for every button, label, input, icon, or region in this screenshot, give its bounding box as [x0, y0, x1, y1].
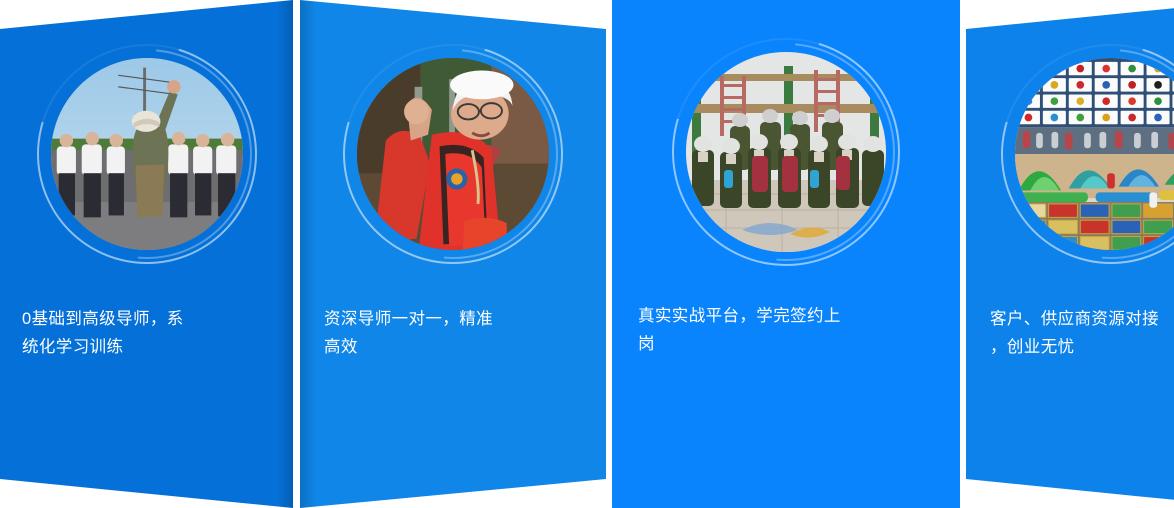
panel-seam-right	[277, 0, 293, 508]
panel-face: 0基础到高级导师，系 统化学习训练	[0, 0, 293, 508]
panel-4-caption: 客户、供应商资源对接 ，创业无忧	[966, 305, 1174, 362]
outdoor-formation-training-photo	[51, 58, 243, 250]
feature-panel-4[interactable]: 客户、供应商资源对接 ，创业无忧	[966, 0, 1174, 508]
panel-4-medallion	[1015, 58, 1174, 250]
panel-face: 资深导师一对一，精准 高效	[300, 0, 606, 508]
promo-panel-banner: 0基础到高级导师，系 统化学习训练	[0, 0, 1174, 508]
panel-face: 真实实战平台，学完签约上 岗	[612, 0, 960, 508]
team-ropes-course-group-photo	[686, 52, 886, 252]
panel-2-medallion	[357, 58, 549, 250]
panel-face: 客户、供应商资源对接 ，创业无忧	[966, 0, 1174, 508]
feature-panel-3[interactable]: 真实实战平台，学完签约上 岗	[612, 0, 960, 508]
panel-2-caption: 资深导师一对一，精准 高效	[300, 305, 606, 362]
panel-3-caption: 真实实战平台，学完签约上 岗	[612, 302, 960, 359]
panel-1-medallion	[51, 58, 243, 250]
panel-1-caption: 0基础到高级导师，系 统化学习训练	[0, 305, 293, 362]
feature-panel-2[interactable]: 资深导师一对一，精准 高效	[300, 0, 606, 508]
senior-instructor-portrait-photo	[357, 58, 549, 250]
panel-seam-left	[300, 0, 316, 508]
feature-panel-1[interactable]: 0基础到高级导师，系 统化学习训练	[0, 0, 293, 508]
panel-3-medallion	[686, 52, 886, 252]
